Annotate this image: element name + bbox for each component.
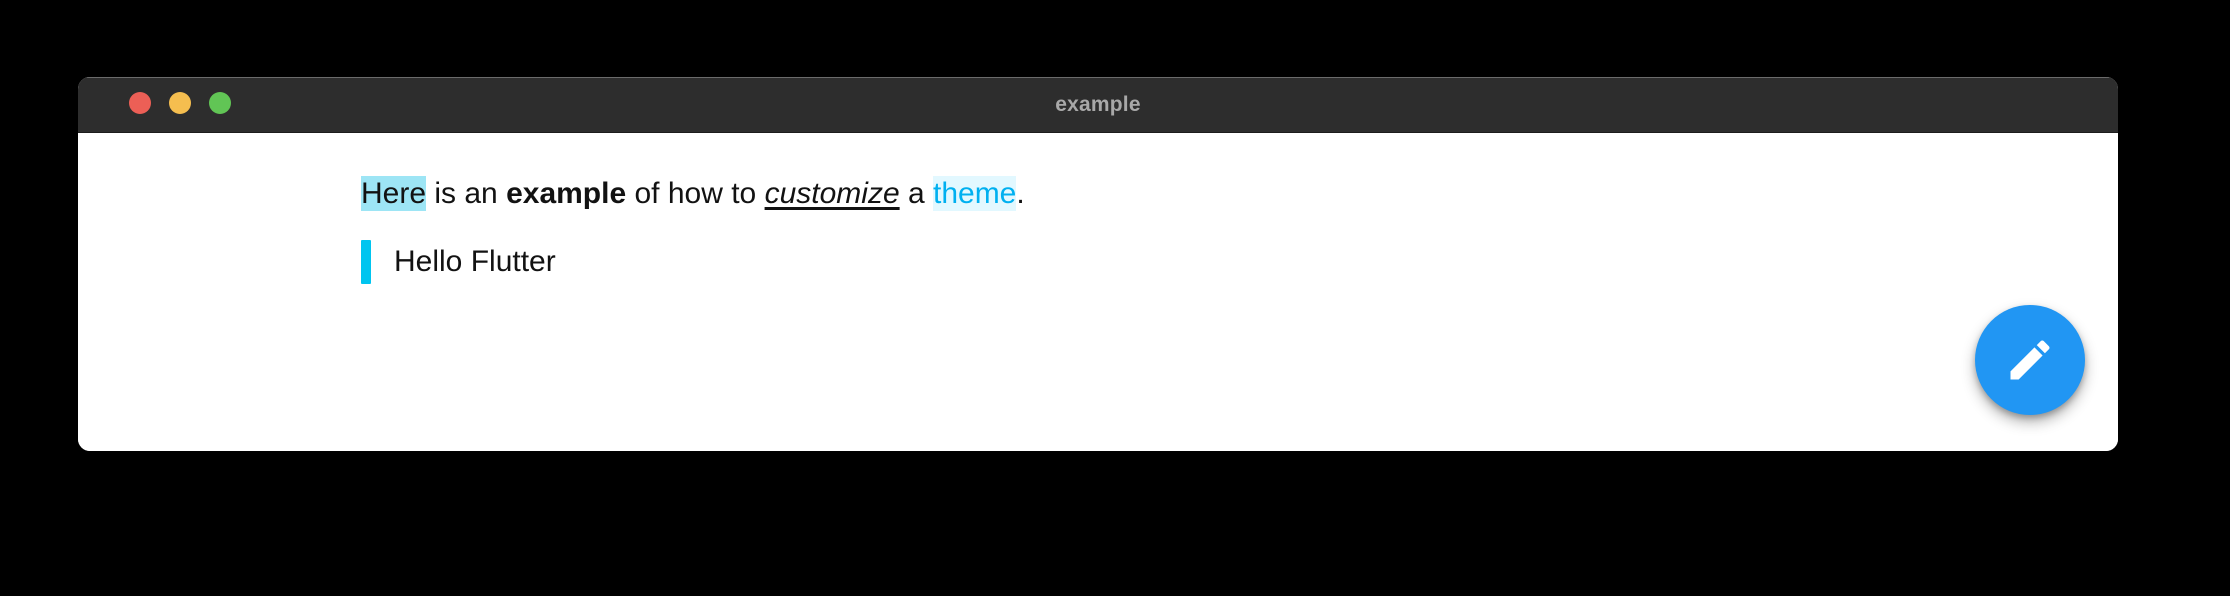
text-segment-italic-underline: customize [765, 177, 900, 210]
text-segment-plain: . [1016, 177, 1024, 210]
text-segment-plain: of how to [626, 177, 764, 210]
text-segment-highlighted: Here [361, 176, 426, 211]
content-area: Here is an example of how to customize a… [361, 175, 2078, 284]
blockquote-text: Hello Flutter [371, 240, 556, 284]
pencil-icon [2004, 334, 2056, 386]
edit-fab-button[interactable] [1975, 305, 2085, 415]
window-content: Here is an example of how to customize a… [78, 133, 2118, 451]
text-segment-link-theme[interactable]: theme [933, 176, 1016, 211]
application-window: example Here is an example of how to cus… [78, 77, 2118, 451]
window-title-bar[interactable]: example [78, 77, 2118, 133]
text-segment-plain: is an [426, 177, 506, 210]
blockquote-accent-bar [361, 240, 371, 284]
blockquote: Hello Flutter [361, 240, 2078, 284]
rich-text-paragraph: Here is an example of how to customize a… [361, 175, 2078, 213]
text-segment-bold: example [506, 177, 626, 210]
window-title: example [78, 77, 2118, 133]
text-segment-plain: a [900, 177, 933, 210]
